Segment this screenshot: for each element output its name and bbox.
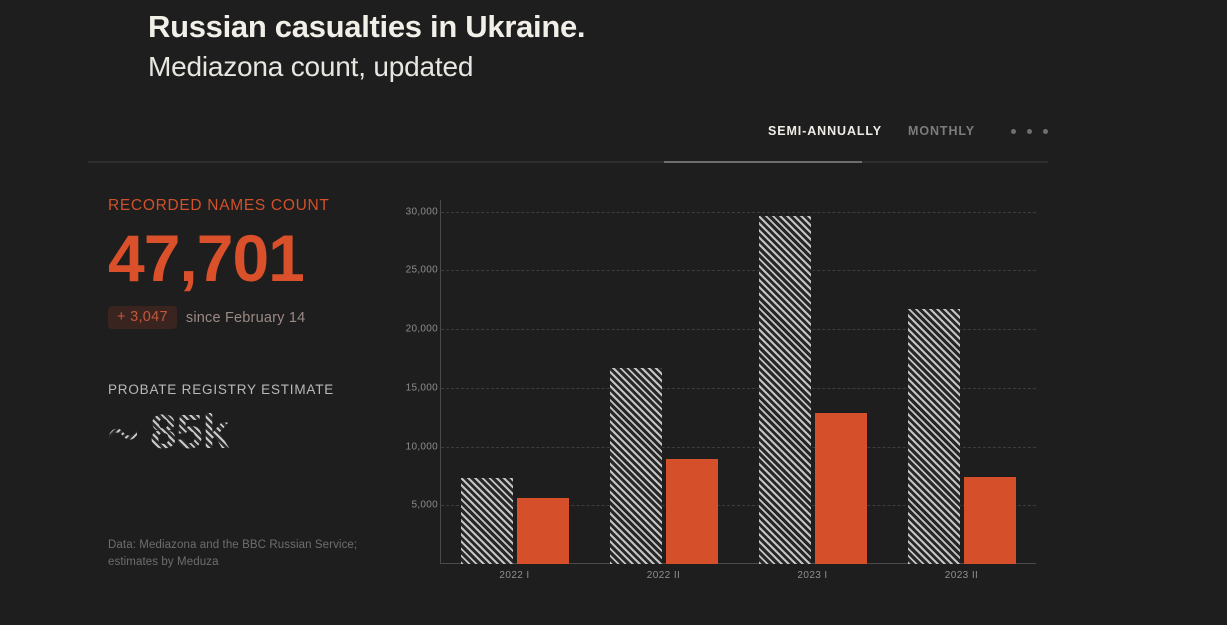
pager-dots[interactable]	[1001, 129, 1048, 146]
probate-estimate-row: 85k	[108, 405, 378, 461]
bar-groups	[441, 200, 1036, 564]
x-axis-labels: 2022 I2022 II2023 I2023 II	[440, 570, 1036, 581]
delta-badge: + 3,047	[108, 306, 177, 329]
tab-active-underline	[664, 161, 862, 163]
y-tick-label: 15,000	[406, 382, 438, 393]
bar-estimate[interactable]	[610, 368, 662, 564]
page-header: Russian casualties in Ukraine. Mediazona…	[148, 6, 585, 86]
recorded-names-value: 47,701	[108, 220, 378, 296]
y-tick-label: 20,000	[406, 324, 438, 335]
x-tick-label: 2023 I	[759, 570, 867, 581]
probate-estimate-value: 85k	[150, 405, 229, 461]
pager-dot-2[interactable]	[1027, 129, 1032, 134]
bar-recorded[interactable]	[517, 498, 569, 564]
bar-recorded[interactable]	[815, 413, 867, 564]
bar-estimate[interactable]	[461, 478, 513, 564]
bar-group	[461, 200, 569, 564]
tab-divider	[88, 161, 1048, 163]
y-axis-labels: 5,00010,00015,00020,00025,00030,000	[396, 200, 438, 564]
tab-list: SEMI-ANNUALLY MONTHLY	[768, 124, 1048, 150]
bar-chart: 5,00010,00015,00020,00025,00030,000 2022…	[396, 200, 1036, 595]
delta-row: + 3,047 since February 14	[108, 306, 378, 329]
page-title: Russian casualties in Ukraine.	[148, 6, 585, 48]
stats-panel: RECORDED NAMES COUNT 47,701 + 3,047 sinc…	[108, 196, 378, 461]
x-tick-label: 2023 II	[908, 570, 1016, 581]
pager-dot-3[interactable]	[1043, 129, 1048, 134]
y-tick-label: 25,000	[406, 265, 438, 276]
x-tick-label: 2022 II	[610, 570, 718, 581]
page-subtitle: Mediazona count, updated	[148, 48, 585, 86]
source-note: Data: Mediazona and the BBC Russian Serv…	[108, 537, 376, 571]
bar-recorded[interactable]	[964, 477, 1016, 564]
tab-monthly[interactable]: MONTHLY	[908, 124, 975, 150]
pager-dot-1[interactable]	[1011, 129, 1016, 134]
recorded-names-label: RECORDED NAMES COUNT	[108, 196, 378, 216]
tilde-icon	[108, 426, 138, 440]
x-tick-label: 2022 I	[461, 570, 569, 581]
bar-group	[610, 200, 718, 564]
y-tick-label: 5,000	[411, 500, 438, 511]
dashboard-page: Russian casualties in Ukraine. Mediazona…	[0, 0, 1227, 625]
bar-recorded[interactable]	[666, 459, 718, 564]
tab-semi-annually[interactable]: SEMI-ANNUALLY	[768, 124, 882, 150]
bar-group	[759, 200, 867, 564]
probate-estimate-label: PROBATE REGISTRY ESTIMATE	[108, 382, 378, 397]
delta-since-text: since February 14	[186, 310, 305, 326]
tab-bar: SEMI-ANNUALLY MONTHLY	[88, 124, 1048, 164]
bar-estimate[interactable]	[908, 309, 960, 564]
plot-area	[440, 200, 1036, 564]
y-tick-label: 10,000	[406, 441, 438, 452]
bar-estimate[interactable]	[759, 216, 811, 564]
bar-group	[908, 200, 1016, 564]
y-tick-label: 30,000	[406, 206, 438, 217]
